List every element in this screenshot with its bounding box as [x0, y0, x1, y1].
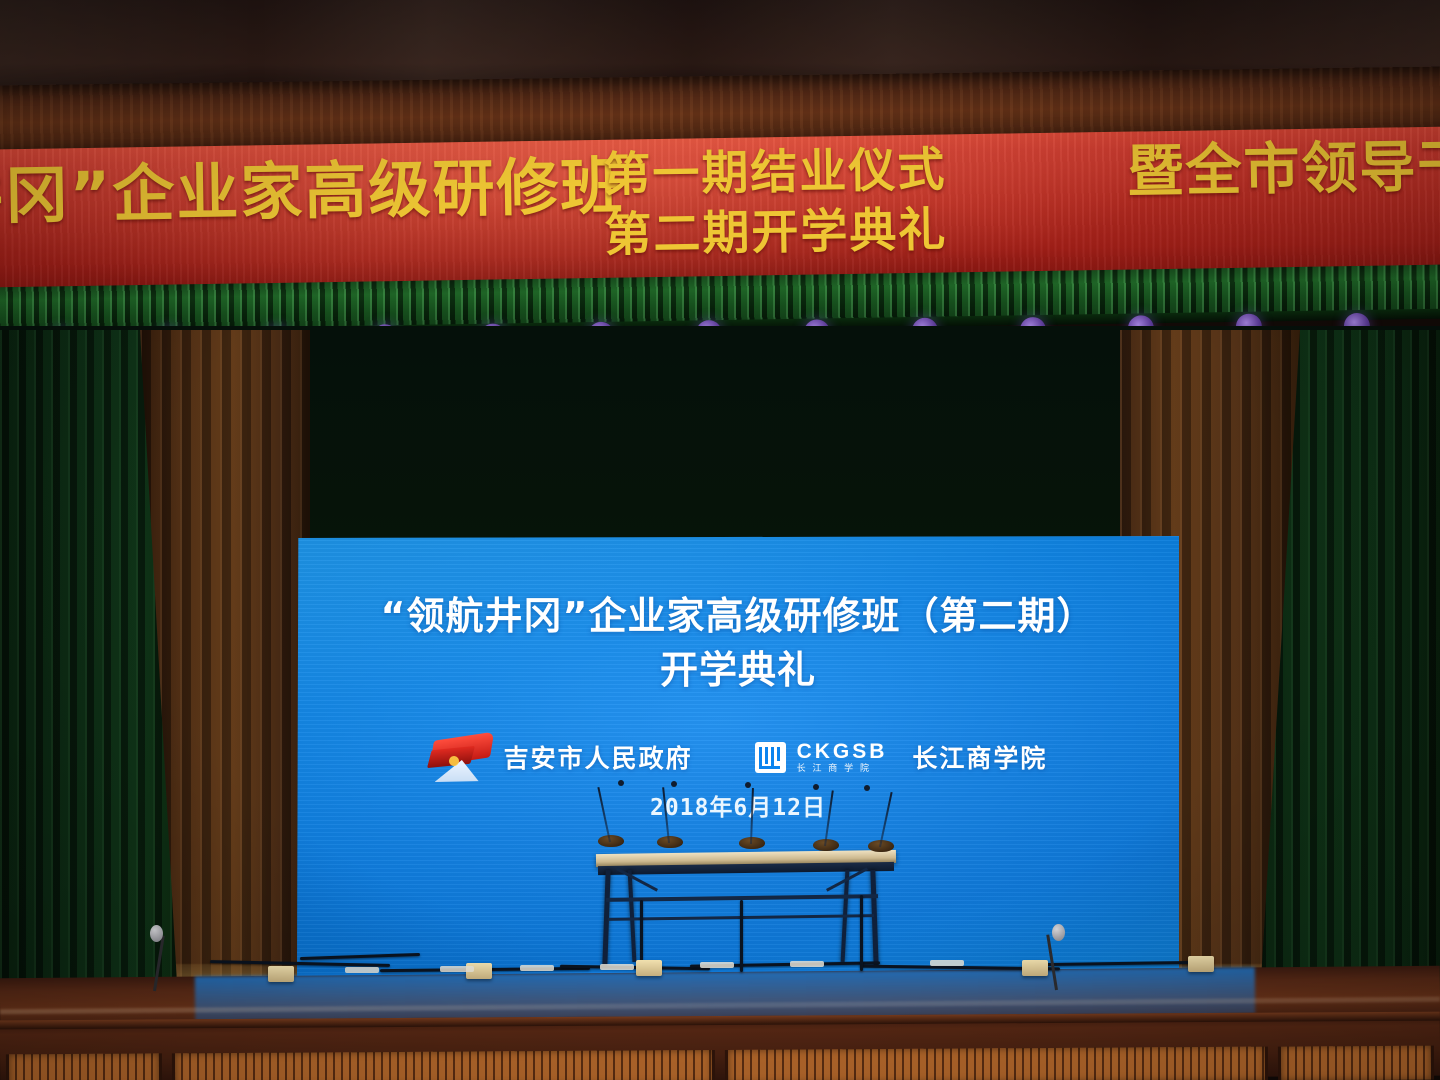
gooseneck-microphone	[668, 783, 671, 843]
acoustic-panel	[172, 1050, 715, 1080]
floor-microphone-left	[150, 925, 158, 989]
banner-line-middle-top: 第一期结业仪式	[603, 141, 947, 207]
gooseneck-microphone	[609, 782, 612, 842]
stage-photo-scene: 井冈”企业家高级研修班 第一期结业仪式 第二期开学典礼 暨全市领导干 “领航井冈…	[0, 0, 1440, 1080]
floor-tape-mark	[790, 961, 824, 967]
banner-line-middle-bottom: 第二期开学典礼	[604, 201, 948, 267]
ckgsb-logo: CKGSB 长 江 商 学 院 长江商学院	[755, 739, 1048, 775]
floor-tape-mark	[930, 960, 964, 966]
jian-government-logo: 吉安市人民政府	[429, 732, 693, 782]
floor-cable	[740, 900, 743, 972]
acoustic-panel	[725, 1047, 1268, 1080]
ckgsb-wordmark: CKGSB 长 江 商 学 院	[797, 741, 888, 774]
banner-line-right: 暨全市领导干	[1127, 136, 1440, 204]
name-card	[1022, 960, 1048, 976]
acoustic-panel	[1278, 1046, 1434, 1080]
floor-tape-mark	[520, 965, 554, 971]
gooseneck-microphone	[824, 786, 827, 846]
screen-logo-row: 吉安市人民政府 CKGSB 长 江 商 学 院 长江商学院	[297, 732, 1179, 782]
table-leg	[628, 870, 637, 962]
floor-tape-mark	[440, 966, 474, 972]
ckgsb-latin-subtext: 长 江 商 学 院	[797, 765, 888, 774]
banner-line-left: 井冈”企业家高级研修班	[0, 154, 625, 230]
floor-tape-mark	[600, 964, 634, 970]
gooseneck-microphone	[750, 784, 753, 844]
name-card	[636, 960, 662, 976]
ckgsb-chinese-label: 长江商学院	[912, 739, 1047, 775]
table-leg	[870, 870, 878, 966]
screen-title-line1: “领航井冈”企业家高级研修班（第二期）	[381, 594, 1096, 638]
jian-city-emblem-icon	[429, 732, 493, 782]
banner-line-middle: 第一期结业仪式 第二期开学典礼	[603, 141, 948, 267]
screen-title-line2: 开学典礼	[297, 644, 1179, 698]
floor-tape-mark	[345, 967, 379, 973]
ckgsb-mark-icon	[755, 742, 786, 773]
jian-government-label: 吉安市人民政府	[504, 739, 693, 775]
floor-microphone-right	[1052, 924, 1060, 988]
gooseneck-microphone	[879, 787, 882, 847]
screen-date: 2018年6月12日	[297, 788, 1179, 822]
ckgsb-latin-text: CKGSB	[797, 741, 888, 762]
acoustic-panel	[6, 1053, 162, 1080]
floor-cable	[860, 895, 863, 971]
name-card	[1188, 956, 1214, 972]
floor-tape-mark	[700, 962, 734, 968]
name-card	[268, 966, 294, 982]
screen-title-block: “领航井冈”企业家高级研修班（第二期） 开学典礼	[297, 590, 1179, 698]
